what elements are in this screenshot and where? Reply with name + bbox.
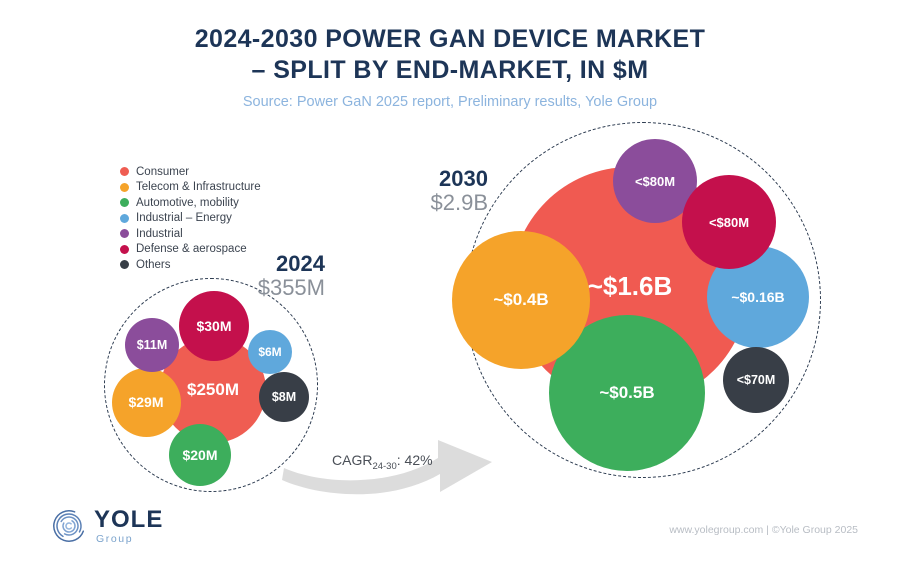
bubble-value-label: ~$1.6B xyxy=(588,271,673,302)
cagr-subscript: 24-30 xyxy=(372,461,396,472)
legend-color-swatch xyxy=(120,183,129,192)
legend-color-swatch xyxy=(120,214,129,223)
bubble-industrial[interactable]: $11M xyxy=(125,318,179,372)
year-label-2024: 2024 xyxy=(235,252,325,276)
bubble-value-label: $250M xyxy=(187,380,239,400)
bubble-value-label: $20M xyxy=(182,447,217,463)
bubble-defense-aerospace[interactable]: $30M xyxy=(179,291,249,361)
year-caption-2024: 2024 $355M xyxy=(235,252,325,300)
bubble-value-label: $6M xyxy=(258,345,281,359)
legend-color-swatch xyxy=(120,198,129,207)
legend-color-swatch xyxy=(120,260,129,269)
bubble-value-label: <$80M xyxy=(635,174,675,189)
legend-color-swatch xyxy=(120,245,129,254)
year-label-2030: 2030 xyxy=(398,167,488,191)
bubble-value-label: $29M xyxy=(128,394,163,410)
bubble-value-label: $30M xyxy=(196,318,231,334)
legend-item-label: Defense & aerospace xyxy=(136,243,247,255)
legend-item: Automotive, mobility xyxy=(120,195,261,211)
page-title-line-2: – SPLIT BY END-MARKET, IN $M xyxy=(0,55,900,86)
growth-arrow xyxy=(280,400,510,500)
bubble-telecom-infrastructure[interactable]: ~$0.4B xyxy=(452,231,590,369)
chart-source-subtitle: Source: Power GaN 2025 report, Prelimina… xyxy=(0,94,900,110)
total-value-2024: $355M xyxy=(235,276,325,300)
yole-logo-sub: Group xyxy=(96,534,163,545)
cagr-suffix: : 42% xyxy=(397,452,433,468)
legend-item-label: Industrial xyxy=(136,228,183,240)
bubble-telecom-infrastructure[interactable]: $29M xyxy=(112,368,181,437)
total-value-2030: $2.9B xyxy=(398,191,488,215)
legend-item-label: Automotive, mobility xyxy=(136,197,239,209)
chart-header: 2024-2030 POWER GAN DEVICE MARKET – SPLI… xyxy=(0,24,900,110)
legend-color-swatch xyxy=(120,229,129,238)
bubble-value-label: ~$0.16B xyxy=(731,289,784,305)
bubble-industrial-energy[interactable]: $6M xyxy=(248,330,292,374)
legend-color-swatch xyxy=(120,167,129,176)
bubble-value-label: <$70M xyxy=(737,373,776,387)
yole-spiral-icon xyxy=(52,509,86,543)
legend-item-label: Industrial – Energy xyxy=(136,212,232,224)
yole-logo-text: YOLE Group xyxy=(94,508,163,545)
bubble-value-label: <$80M xyxy=(709,215,749,230)
yole-logo-main: YOLE xyxy=(94,508,163,532)
growth-arrow-icon xyxy=(280,400,510,500)
cagr-annotation: CAGR24-30: 42% xyxy=(332,452,433,472)
bubble-defense-aerospace[interactable]: <$80M xyxy=(682,175,776,269)
cagr-prefix: CAGR xyxy=(332,452,372,468)
legend-item: Telecom & Infrastructure xyxy=(120,180,261,196)
legend-item-label: Telecom & Infrastructure xyxy=(136,181,261,193)
legend-item: Industrial – Energy xyxy=(120,211,261,227)
legend-item-label: Others xyxy=(136,259,171,271)
yole-logo: YOLE Group xyxy=(52,508,163,545)
bubble-value-label: $11M xyxy=(137,338,168,352)
page-title-line-1: 2024-2030 POWER GAN DEVICE MARKET xyxy=(0,24,900,55)
footer-copyright: www.yolegroup.com | ©Yole Group 2025 xyxy=(669,524,858,536)
bubble-automotive-mobility[interactable]: $20M xyxy=(169,424,231,486)
year-caption-2030: 2030 $2.9B xyxy=(398,167,488,215)
bubble-value-label: ~$0.5B xyxy=(599,383,654,403)
legend-item: Consumer xyxy=(120,164,261,180)
legend-item: Industrial xyxy=(120,226,261,242)
bubble-value-label: ~$0.4B xyxy=(493,290,548,310)
bubble-others[interactable]: <$70M xyxy=(723,347,789,413)
legend-item-label: Consumer xyxy=(136,166,189,178)
